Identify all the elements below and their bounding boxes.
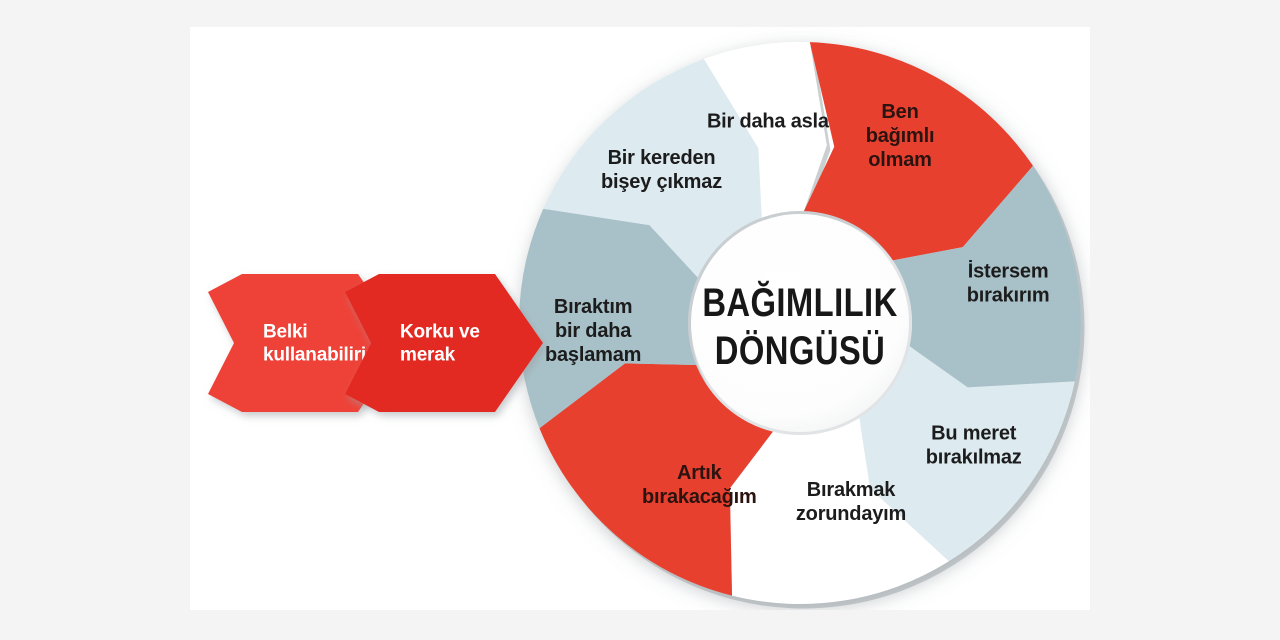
seg-bir-daha-asla-label: Bir daha asla [707,111,830,133]
arrow-korku-ve-merak-shape[interactable] [345,274,543,412]
center-title-line2: DÖNGÜSÜ [715,328,885,373]
addiction-cycle-figure: BAĞIMLILIK DÖNGÜSÜ Benbağımlıolmamİsters… [190,27,1090,610]
seg-biraktim-bir-daha-baslamam-label: Bıraktımbir dahabaşlamam [545,296,641,366]
figure-panel: BAĞIMLILIK DÖNGÜSÜ Benbağımlıolmamİsters… [190,27,1090,610]
entry-arrows: BelkikullanabilirimKorku vemerak [208,274,543,412]
screenshot-root: BAĞIMLILIK DÖNGÜSÜ Benbağımlıolmamİsters… [0,0,1280,640]
arrow-korku-ve-merak[interactable] [345,274,543,412]
center-title-line1: BAĞIMLILIK [702,280,897,325]
